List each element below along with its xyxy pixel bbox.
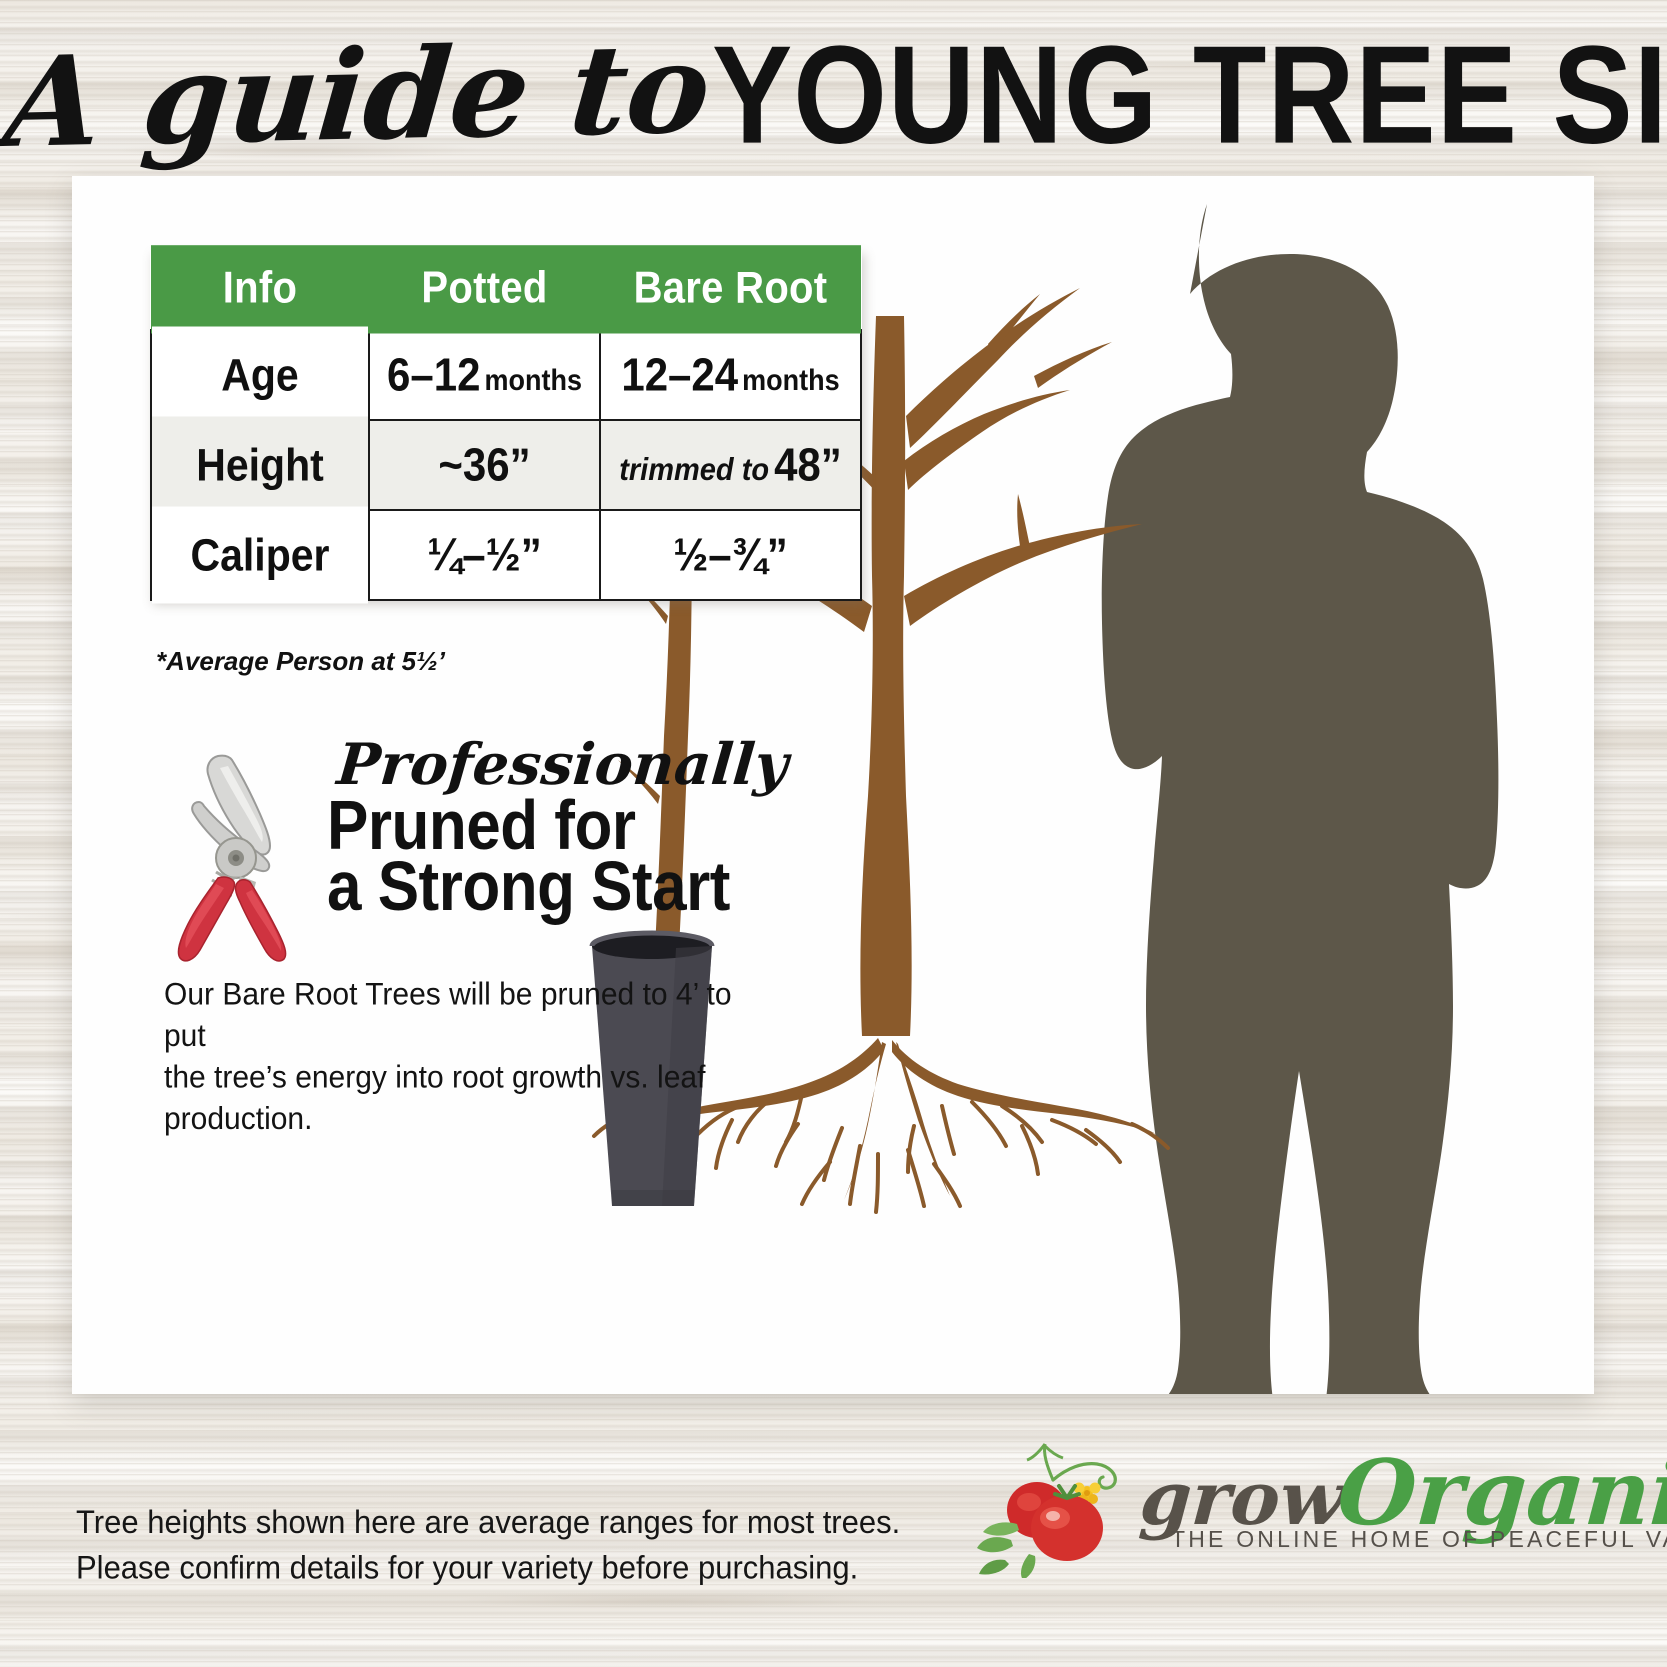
cell-caliper-bare-value: ½–¾”	[673, 529, 787, 582]
logo-wordmark: growOrganic.com	[1140, 1448, 1667, 1538]
cell-age-potted-unit: months	[484, 363, 582, 397]
cell-age-bare: 12–24months	[600, 330, 861, 420]
cell-caliper-potted: ¼–½”	[369, 510, 600, 600]
logo-tagline: THE ONLINE HOME OF PEACEFUL VALLEY	[1171, 1526, 1667, 1553]
cell-height-bare-prefix: trimmed to	[619, 452, 769, 488]
cell-age-bare-unit: months	[742, 363, 840, 397]
cell-age-bare-value: 12–24	[621, 349, 738, 402]
pruned-body-text: Our Bare Root Trees will be pruned to 4’…	[164, 974, 764, 1139]
footer-disclaimer: Tree heights shown here are average rang…	[76, 1500, 900, 1591]
cell-caliper-potted-value: ¼–½”	[427, 529, 541, 582]
logo-word-grow: grow	[1137, 1462, 1346, 1536]
cell-height-potted: ~36”	[369, 420, 600, 510]
pruned-body-line-1: Our Bare Root Trees will be pruned to 4’…	[164, 974, 764, 1057]
cell-caliper-bare: ½–¾”	[600, 510, 861, 600]
footer-line-2: Please confirm details for your variety …	[76, 1545, 900, 1590]
pruned-bold-line-2: a Strong Start	[327, 854, 777, 922]
table-row: Age 6–12months 12–24months	[151, 330, 861, 420]
page-title-block: YOUNG TREE SIZES	[712, 26, 1667, 165]
tree-size-table: Info Potted Bare Root Age 6–12months 12–…	[150, 250, 862, 601]
page-title: A guide toYOUNG TREE SIZES	[0, 42, 1667, 166]
cell-age-potted: 6–12months	[369, 330, 600, 420]
pruned-headline: Professionally Pruned for a Strong Start	[327, 736, 777, 915]
footer-line-1: Tree heights shown here are average rang…	[76, 1500, 900, 1545]
cell-age-potted-value: 6–12	[387, 349, 480, 402]
row-label-caliper: Caliper	[151, 506, 369, 605]
grow-organic-logo[interactable]: growOrganic.com THE ONLINE HOME OF PEACE…	[975, 1410, 1595, 1590]
page-title-script: A guide to	[0, 27, 724, 166]
cell-height-bare: trimmed to48”	[600, 420, 861, 510]
logo-word-organic: Organic	[1335, 1448, 1667, 1538]
table-row: Height ~36” trimmed to48”	[151, 420, 861, 510]
col-header-bare-root: Bare Root	[600, 245, 861, 335]
hand-pruner-icon	[170, 750, 320, 965]
tomato-vine-icon	[975, 1428, 1145, 1578]
row-label-height: Height	[151, 416, 369, 515]
table-row: Caliper ¼–½” ½–¾”	[151, 510, 861, 600]
col-header-info: Info	[151, 245, 369, 335]
col-header-potted: Potted	[369, 245, 600, 335]
table-footnote: *Average Person at 5½’	[156, 646, 445, 677]
row-label-age: Age	[151, 326, 369, 425]
cell-height-potted-value: ~36”	[438, 439, 530, 492]
person-silhouette-illustration	[1102, 204, 1499, 1394]
table-header-row: Info Potted Bare Root	[151, 250, 861, 330]
pruned-body-line-2: the tree’s energy into root growth vs. l…	[164, 1057, 764, 1140]
pruned-script-line: Professionally	[335, 736, 790, 793]
infographic-card: Info Potted Bare Root Age 6–12months 12–…	[72, 176, 1594, 1394]
cell-height-bare-value: 48”	[774, 439, 842, 492]
